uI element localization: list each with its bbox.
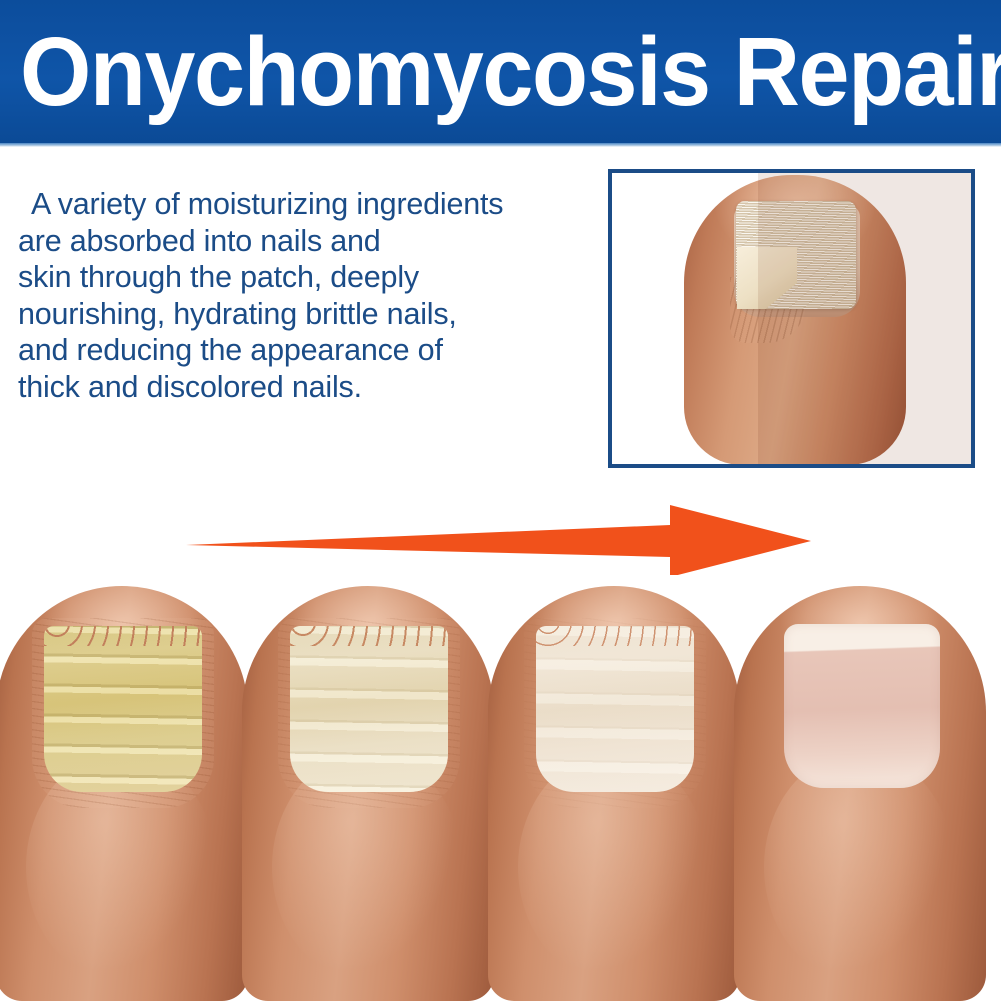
inset-shadow-overlay — [758, 173, 971, 464]
description-text: A variety of moisturizing ingredients ar… — [18, 186, 588, 405]
description-line: A variety of moisturizing ingredients — [18, 186, 588, 223]
banner-underline — [0, 143, 1001, 147]
header-banner: Onychomycosis Repair — [0, 0, 1001, 143]
description-line: are absorbed into nails and — [18, 223, 588, 260]
nail-plate-improving — [536, 626, 694, 792]
nail-progression-strip — [0, 582, 1001, 1001]
patch-application-photo — [608, 169, 975, 468]
arrow-right-icon — [186, 497, 811, 575]
nail-ridges — [536, 626, 694, 792]
description-line: nourishing, hydrating brittle nails, — [18, 296, 588, 333]
description-line: and reducing the appearance of — [18, 332, 588, 369]
nail-crenellated-edge — [536, 626, 694, 646]
nail-plate-healthy — [784, 624, 940, 788]
description-line: thick and discolored nails. — [18, 369, 588, 406]
description-line: skin through the patch, deeply — [18, 259, 588, 296]
product-infographic: Onychomycosis Repair A variety of moistu… — [0, 0, 1001, 1001]
progression-stage-2 — [238, 582, 500, 1001]
nail-crenellated-edge — [44, 626, 202, 646]
progress-arrow — [186, 497, 811, 575]
progression-stage-4 — [730, 582, 992, 1001]
nail-plate-diseased — [44, 626, 202, 792]
progression-stage-1 — [0, 582, 254, 1001]
inset-stage — [612, 173, 971, 464]
progression-stage-3 — [484, 582, 746, 1001]
nail-ridges — [290, 626, 448, 792]
nail-plate-diseased — [290, 626, 448, 792]
page-title: Onychomycosis Repair — [20, 13, 941, 131]
nail-ridges — [44, 626, 202, 792]
nail-crenellated-edge — [290, 626, 448, 646]
